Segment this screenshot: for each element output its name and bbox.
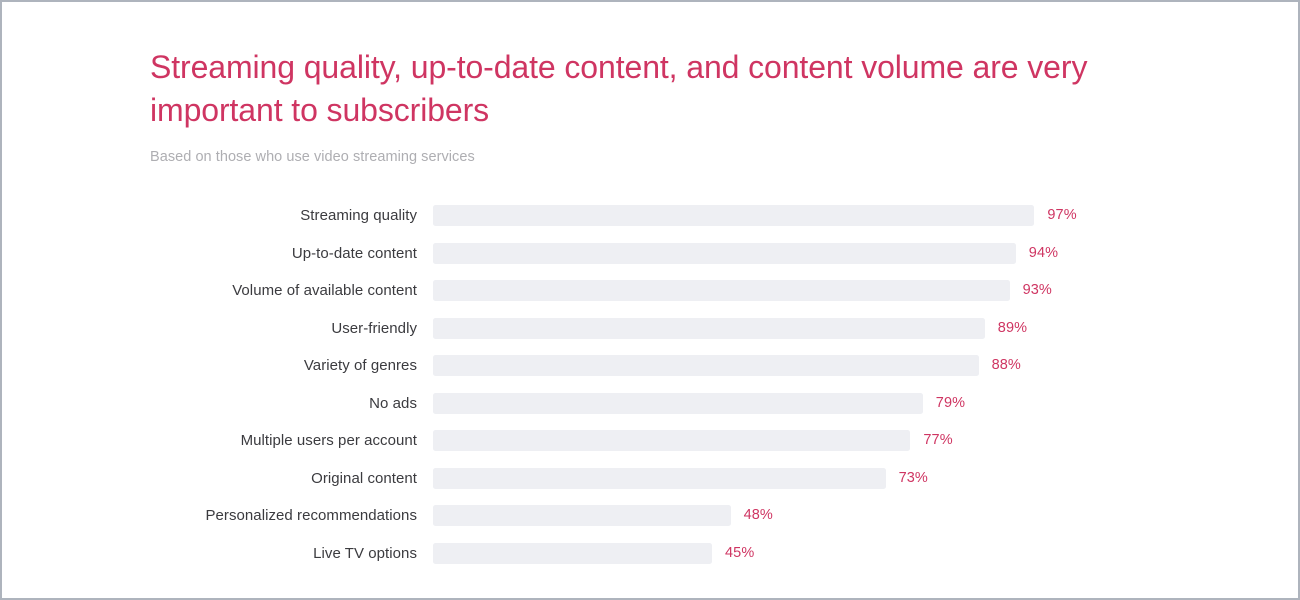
bar [433, 430, 910, 451]
bar-row: Up-to-date content94% [2, 243, 1300, 281]
bar-row: Multiple users per account77% [2, 430, 1300, 468]
bar-value-label: 73% [899, 468, 928, 489]
bar-category-label: Personalized recommendations [2, 505, 417, 526]
chart-header: Streaming quality, up-to-date content, a… [150, 46, 1110, 166]
bar-row: Volume of available content93% [2, 280, 1300, 318]
bar-value-label: 88% [992, 355, 1021, 376]
bar-category-label: Variety of genres [2, 355, 417, 376]
bar-row: User-friendly89% [2, 318, 1300, 356]
bar-value-label: 79% [936, 393, 965, 414]
bar-track [433, 355, 1053, 376]
bar-category-label: User-friendly [2, 318, 417, 339]
bar-track [433, 205, 1053, 226]
bar-value-label: 97% [1047, 205, 1076, 226]
bar-value-label: 89% [998, 318, 1027, 339]
bar-row: Original content73% [2, 468, 1300, 506]
bar [433, 280, 1010, 301]
chart-page: Streaming quality, up-to-date content, a… [0, 0, 1300, 600]
bar-value-label: 94% [1029, 243, 1058, 264]
bar-value-label: 77% [923, 430, 952, 451]
bar [433, 243, 1016, 264]
chart-subtitle: Based on those who use video streaming s… [150, 132, 1110, 166]
bar [433, 205, 1034, 226]
bar [433, 468, 886, 489]
bar [433, 318, 985, 339]
bar-category-label: No ads [2, 393, 417, 414]
bar-row: Live TV options45% [2, 543, 1300, 581]
bar-category-label: Up-to-date content [2, 243, 417, 264]
bar-row: Streaming quality97% [2, 205, 1300, 243]
bar-category-label: Volume of available content [2, 280, 417, 301]
bar-track [433, 318, 1053, 339]
page-title: Streaming quality, up-to-date content, a… [150, 46, 1110, 132]
bar-row: Personalized recommendations48% [2, 505, 1300, 543]
bar-row: Variety of genres88% [2, 355, 1300, 393]
bar-track [433, 243, 1053, 264]
bar-value-label: 45% [725, 543, 754, 564]
bar [433, 543, 712, 564]
bar-row: No ads79% [2, 393, 1300, 431]
bar-track [433, 468, 1053, 489]
horizontal-bar-chart: Streaming quality97%Up-to-date content94… [2, 205, 1300, 580]
bar-value-label: 93% [1023, 280, 1052, 301]
bar-value-label: 48% [744, 505, 773, 526]
bar-track [433, 280, 1053, 301]
bar-track [433, 430, 1053, 451]
bar [433, 505, 731, 526]
bar [433, 355, 979, 376]
bar-category-label: Streaming quality [2, 205, 417, 226]
bar-category-label: Multiple users per account [2, 430, 417, 451]
bar [433, 393, 923, 414]
bar-category-label: Original content [2, 468, 417, 489]
bar-category-label: Live TV options [2, 543, 417, 564]
